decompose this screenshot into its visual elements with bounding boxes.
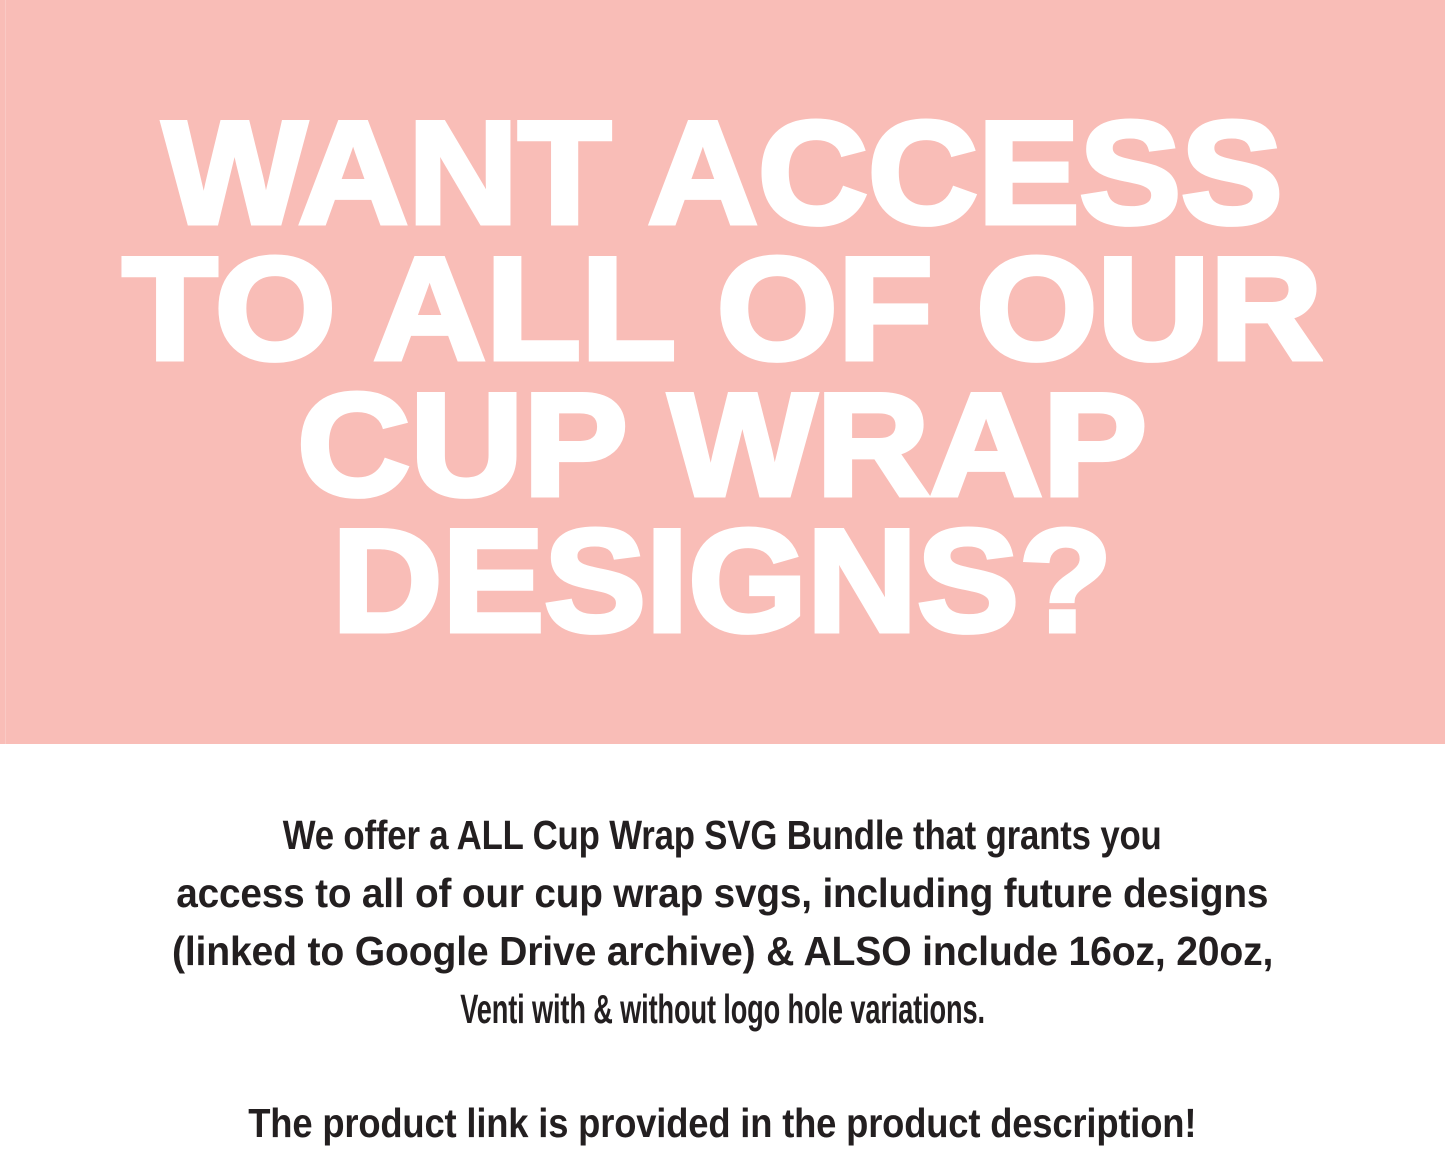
headline-line-1: WANT ACCESS (163, 105, 1283, 241)
product-link-note-line-1: The product link is provided in the prod… (248, 1094, 1196, 1152)
description-panel: We offer a ALL Cup Wrap SVG Bundle that … (0, 744, 1445, 1156)
bundle-description-line-1: We offer a ALL Cup Wrap SVG Bundle that … (283, 806, 1162, 864)
headline-line-3: CUP WRAP (297, 377, 1147, 513)
promo-graphic-page: WANT ACCESS TO ALL OF OUR CUP WRAP DESIG… (0, 0, 1445, 1156)
headline-line-4: DESIGNS? (332, 513, 1112, 649)
headline-line-2: TO ALL OF OUR (123, 241, 1323, 377)
bundle-description-line-4: Venti with & without logo hole variation… (460, 980, 985, 1038)
product-link-note-paragraph: The product link is provided in the prod… (58, 1094, 1388, 1152)
bundle-description-line-2: access to all of our cup wrap svgs, incl… (176, 864, 1268, 922)
hero-headline-block: WANT ACCESS TO ALL OF OUR CUP WRAP DESIG… (0, 0, 1445, 744)
hero-banner: WANT ACCESS TO ALL OF OUR CUP WRAP DESIG… (0, 0, 1445, 744)
bundle-description-line-3: (linked to Google Drive archive) & ALSO … (172, 922, 1273, 980)
bundle-description-paragraph: We offer a ALL Cup Wrap SVG Bundle that … (58, 806, 1388, 1038)
